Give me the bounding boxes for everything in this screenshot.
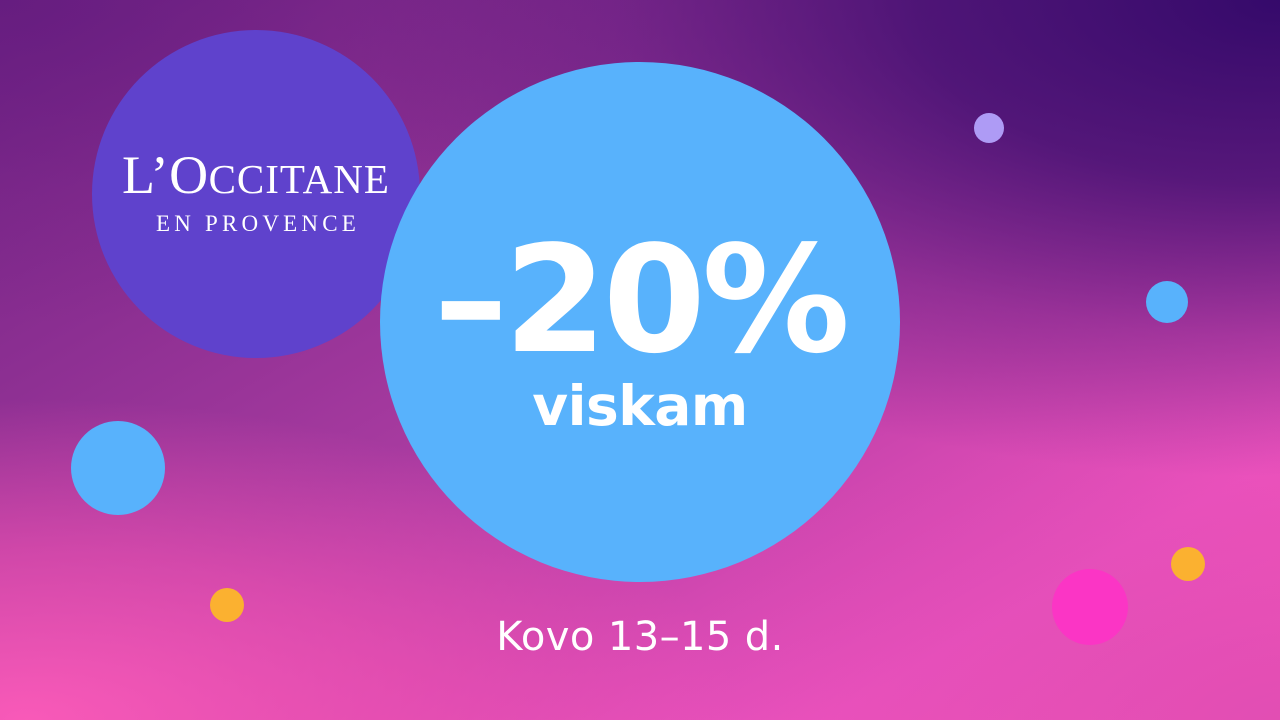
dot-lavender-top-right bbox=[974, 113, 1004, 143]
logo-initial-o: O bbox=[169, 145, 209, 205]
logo-wordmark-rest: CCITANE bbox=[209, 156, 390, 202]
promo-banner: L’OCCITANE EN PROVENCE –20% viskam Kovo … bbox=[0, 0, 1280, 720]
promo-date: Kovo 13–15 d. bbox=[0, 614, 1280, 660]
logo-tagline: EN PROVENCE bbox=[122, 211, 390, 237]
discount-amount: –20% bbox=[434, 232, 846, 368]
brand-logo-circle: L’OCCITANE EN PROVENCE bbox=[92, 30, 420, 358]
offer-content: –20% viskam bbox=[434, 232, 846, 433]
discount-scope-label: viskam bbox=[434, 379, 846, 434]
loccitane-logo: L’OCCITANE EN PROVENCE bbox=[122, 148, 390, 237]
logo-wordmark: L’OCCITANE bbox=[122, 148, 390, 202]
logo-lead: L’ bbox=[122, 145, 169, 205]
dot-blue-right bbox=[1146, 281, 1188, 323]
dot-orange-right bbox=[1171, 547, 1205, 581]
offer-circle: –20% viskam bbox=[380, 62, 900, 582]
dot-blue-left bbox=[71, 421, 165, 515]
